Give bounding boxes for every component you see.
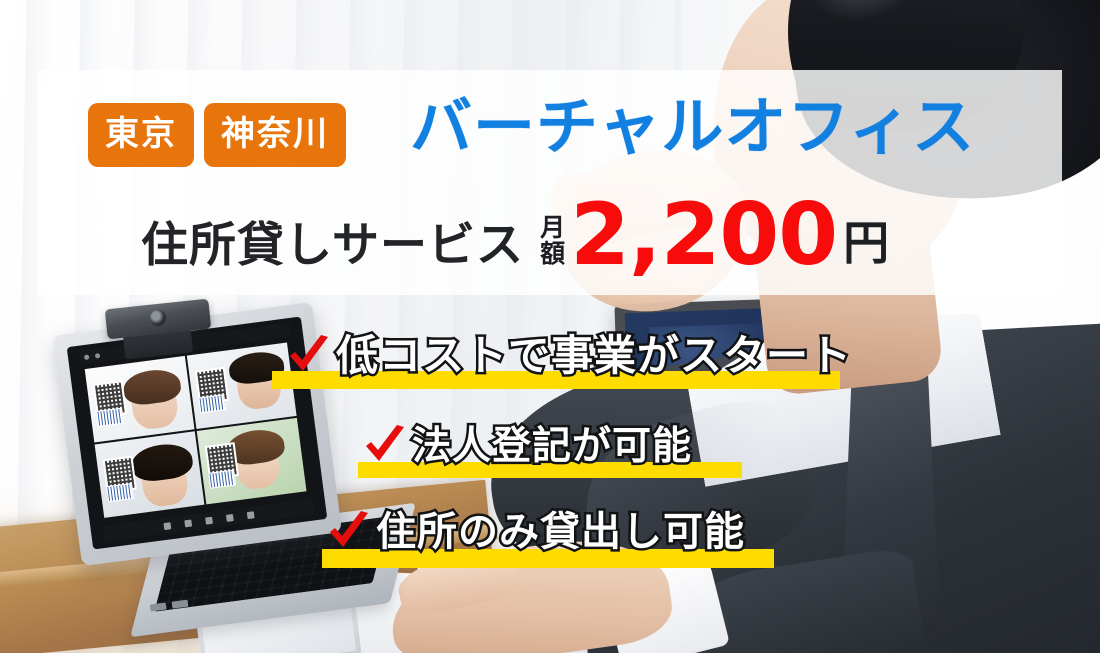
feature-label-1: 低コストで事業がスタート xyxy=(336,335,852,377)
video-participant-1 xyxy=(85,356,195,443)
window-control-icon xyxy=(84,354,90,360)
monthly-label: 月 額 xyxy=(540,215,565,275)
qr-code-overlay-2 xyxy=(198,394,226,414)
subheadline-text: 住所貸しサービス xyxy=(141,222,524,275)
qr-code-overlay-2 xyxy=(106,483,134,503)
camera-icon xyxy=(184,519,192,527)
qr-code-overlay-2 xyxy=(208,469,236,489)
check-icon xyxy=(326,510,372,554)
check-icon xyxy=(286,334,332,378)
check-icon xyxy=(362,424,408,468)
end-call-icon xyxy=(246,511,254,519)
badge-kanagawa: 神奈川 xyxy=(204,103,346,167)
region-badge-group: 東京 神奈川 xyxy=(88,103,346,167)
headline-panel: 東京 神奈川 バーチャルオフィス 住所貸しサービス 月 額 2,200 円 xyxy=(38,70,1062,295)
mic-icon xyxy=(163,522,171,530)
video-call-grid xyxy=(85,342,307,517)
banner-root: 東京 神奈川 バーチャルオフィス 住所貸しサービス 月 額 2,200 円 低コ… xyxy=(0,0,1100,653)
video-participant-3 xyxy=(95,431,205,518)
badge-tokyo: 東京 xyxy=(88,103,194,167)
feature-label-2: 法人登記が可能 xyxy=(412,427,692,466)
headline-text: バーチャルオフィス xyxy=(410,96,975,158)
window-control-icon xyxy=(95,353,101,359)
currency-unit: 円 xyxy=(843,220,889,275)
feature-item-2: 法人登記が可能 xyxy=(362,424,692,468)
subheadline-row: 住所貸しサービス 月 額 2,200 円 xyxy=(141,196,889,275)
feature-label-3: 住所のみ貸出し可能 xyxy=(376,512,745,552)
qr-code-overlay-2 xyxy=(96,407,124,427)
participants-icon xyxy=(205,516,213,524)
feature-item-3: 住所のみ貸出し可能 xyxy=(326,510,745,554)
price-amount: 2,200 xyxy=(570,196,837,275)
share-icon xyxy=(225,514,233,522)
usb-port xyxy=(172,600,189,609)
monthly-label-char-1: 月 xyxy=(540,215,565,241)
monthly-label-char-2: 額 xyxy=(540,241,565,267)
usb-port xyxy=(150,603,167,612)
video-participant-4 xyxy=(197,418,307,505)
feature-item-1: 低コストで事業がスタート xyxy=(286,334,852,378)
